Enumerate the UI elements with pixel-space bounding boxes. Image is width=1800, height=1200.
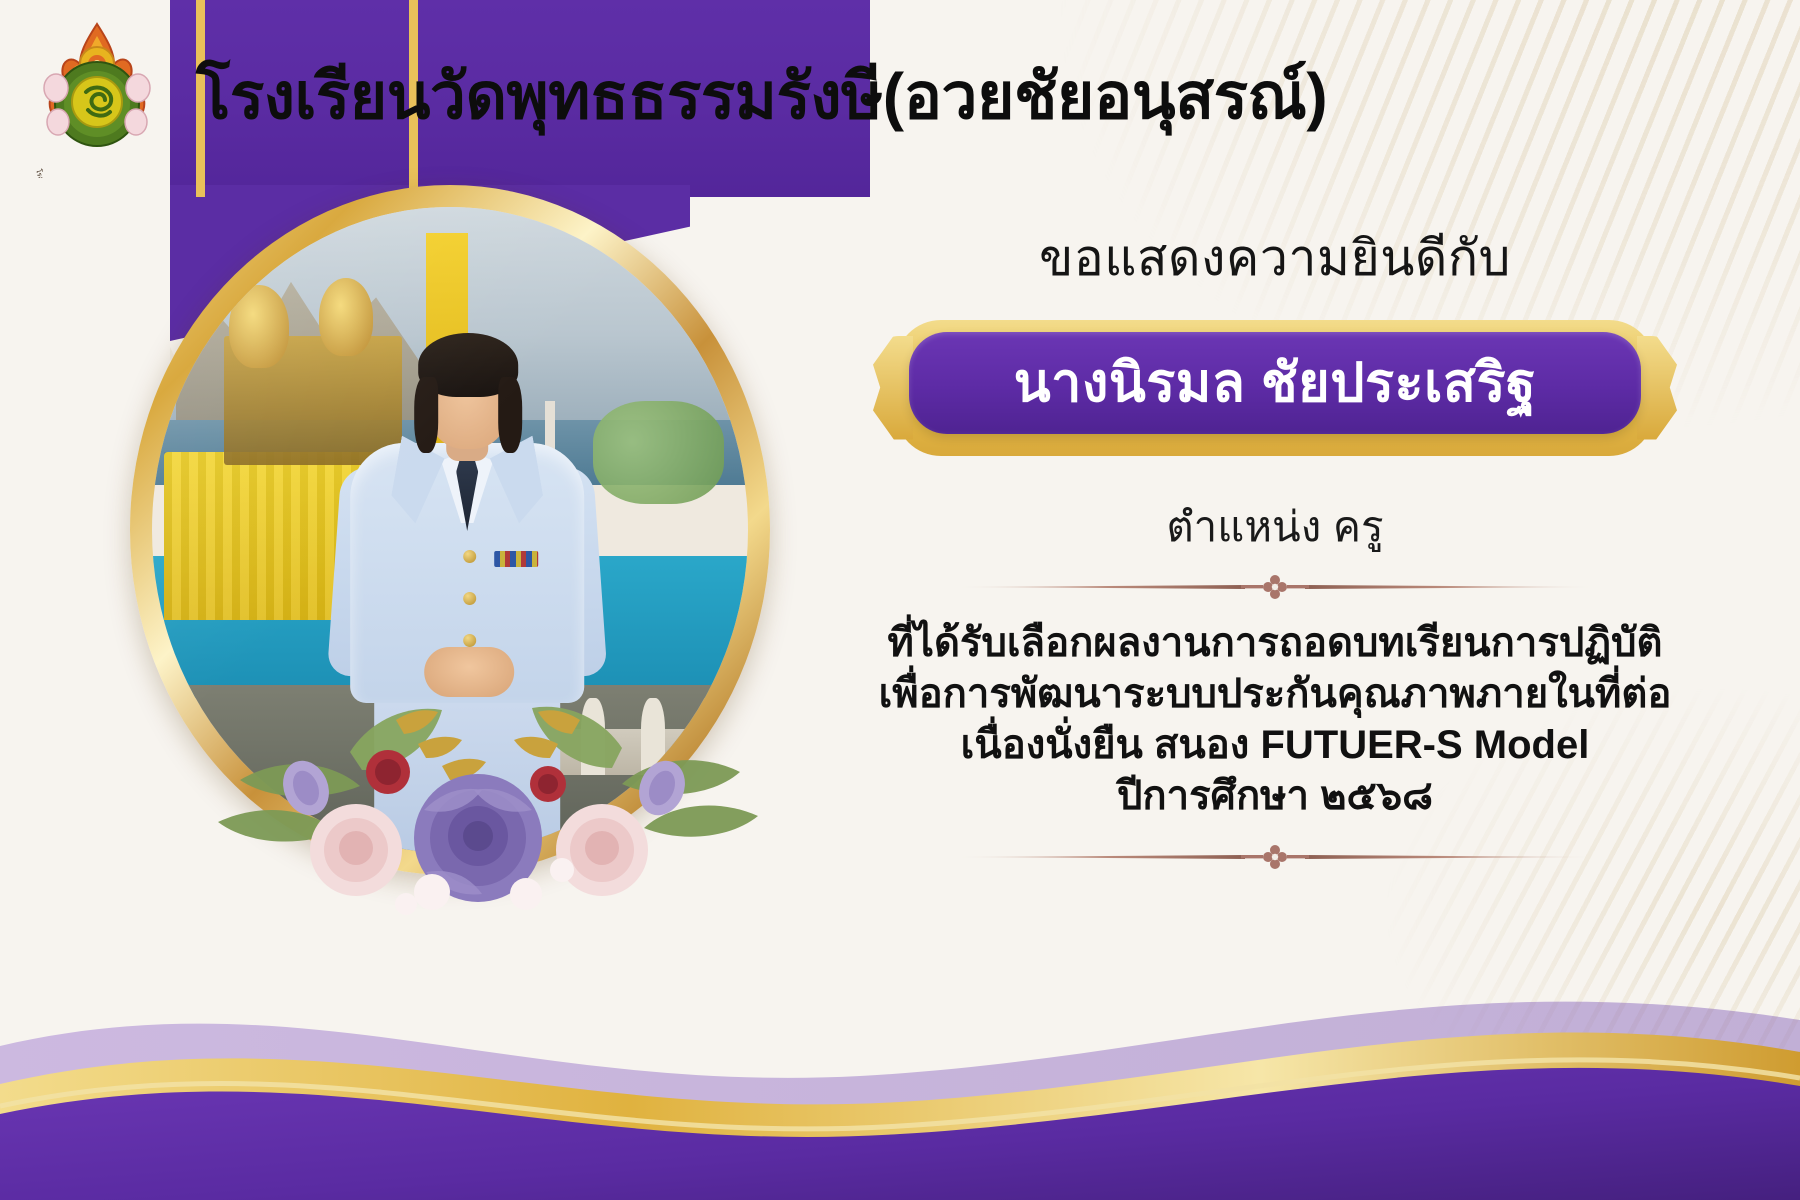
congratulation-poster: โรงเรียนวัดพุทธธรรมรังษี(อวยชัยอนุสรณ์) [0,0,1800,1200]
ornamental-divider-top [945,574,1605,600]
award-description: ที่ได้รับเลือกผลงานการถอดบทเรียนการปฏิบั… [860,618,1690,823]
bottom-wave-decoration [0,870,1800,1200]
honoree-name-text: นางนิรมล ชัยประเสริฐ [1014,356,1537,410]
award-description-line-1: ที่ได้รับเลือกผลงานการถอดบทเรียนการปฏิบั… [860,618,1690,669]
award-description-line-3: เนื่องนั่งยืน สนอง FUTUER-S Model [860,720,1690,771]
svg-text:โรงเรียนวัดพุทธธรรมรังษี(อวยชั: โรงเรียนวัดพุทธธรรมรังษี(อวยชัยอนุสรณ์) [34,168,135,178]
congratulation-label: ขอแสดงความยินดีกับ [860,230,1690,288]
name-badge-fill: นางนิรมล ชัยประเสริฐ [909,332,1641,434]
award-description-line-4: ปีการศึกษา ๒๕๖๘ [860,771,1690,822]
position-label: ตำแหน่ง ครู [860,494,1690,560]
ornamental-divider-bottom [945,844,1605,870]
honoree-name-badge: นางนิรมล ชัยประเสริฐ [895,320,1655,460]
award-content: ขอแสดงความยินดีกับ นางนิรมล ชัยประเสริฐ … [860,230,1690,870]
ministry-emblem-icon: โรงเรียนวัดพุทธธรรมรังษี(อวยชัยอนุสรณ์) … [22,18,172,178]
award-description-line-2: เพื่อการพัฒนาระบบประกันคุณภาพภายในที่ต่อ [860,669,1690,720]
school-name-text: โรงเรียนวัดพุทธธรรมรังษี(อวยชัยอนุสรณ์) [196,45,1327,147]
page-title: โรงเรียนวัดพุทธธรรมรังษี(อวยชัยอนุสรณ์) [196,48,1496,144]
